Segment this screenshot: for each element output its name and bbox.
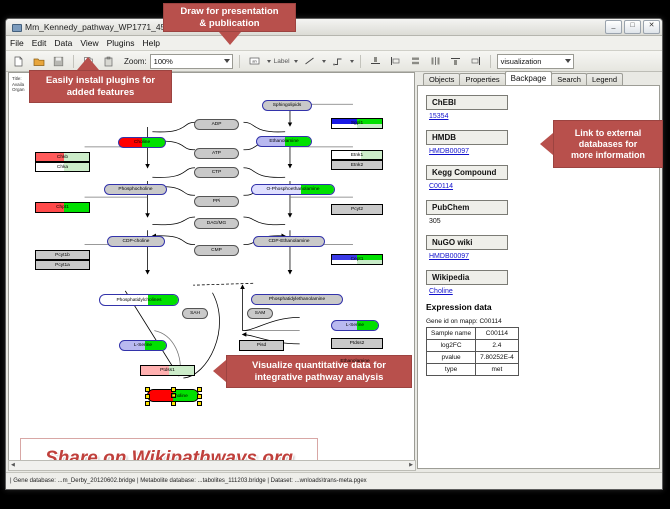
node-atp[interactable]: ATP bbox=[194, 148, 239, 159]
callout-visualize: Visualize quantitative data for integrat… bbox=[226, 355, 412, 388]
node-fill-up bbox=[361, 151, 382, 159]
tab-backpage[interactable]: Backpage bbox=[505, 71, 553, 85]
node-l-serine-right[interactable]: L-Serine bbox=[331, 320, 379, 331]
node-label: Ptdss1 bbox=[160, 368, 175, 373]
db-header-pubchem: PubChem bbox=[426, 200, 508, 215]
maximize-button[interactable]: □ bbox=[624, 20, 641, 34]
resize-handle-e[interactable] bbox=[197, 394, 202, 399]
minimize-button[interactable]: _ bbox=[605, 20, 622, 34]
pathway-edges bbox=[9, 73, 414, 468]
node-label: Sgpl1 bbox=[351, 121, 363, 126]
node-o-phosphoethanolamine[interactable]: O-Phosphoethanolamine bbox=[251, 184, 335, 195]
node-label: Ethanolamine bbox=[340, 359, 369, 364]
node-label: Choline bbox=[134, 140, 150, 145]
node-ethanolamine-top[interactable]: Ethanolamine bbox=[256, 136, 312, 147]
node-label: PPi bbox=[213, 199, 220, 204]
align-bottom-icon[interactable] bbox=[447, 53, 464, 70]
node-label: ADP bbox=[212, 122, 222, 127]
align-top-icon[interactable] bbox=[367, 53, 384, 70]
node-ptdss1[interactable]: Ptdss1 bbox=[140, 365, 195, 376]
node-cdp-ethanolamine[interactable]: CDP-Ethanolamine bbox=[253, 236, 325, 247]
node-sam[interactable]: SAM bbox=[247, 308, 273, 319]
menu-item-help[interactable]: Help bbox=[143, 38, 160, 48]
cell-label: Sample name bbox=[427, 328, 476, 340]
node-l-serine-left[interactable]: L-Serine bbox=[119, 340, 167, 351]
node-phosphatidylethanolamine[interactable]: Phosphatidylethanolamine bbox=[251, 294, 343, 305]
new-icon[interactable] bbox=[10, 53, 27, 70]
cell-label: pvalue bbox=[427, 352, 476, 364]
cell-value: met bbox=[476, 364, 519, 376]
node-sphingolipids[interactable]: Sphingolipids bbox=[262, 100, 312, 111]
node-sgpl1[interactable]: Sgpl1 bbox=[331, 118, 383, 129]
canvas-hscrollbar[interactable]: ◀ ▶ bbox=[8, 460, 416, 471]
node-label: Cept1 bbox=[351, 257, 364, 262]
db-header-wikipedia: Wikipedia bbox=[426, 270, 508, 285]
node-pisd[interactable]: Pisd bbox=[239, 340, 284, 351]
svg-text:ah: ah bbox=[252, 59, 256, 64]
screen: Mm_Kennedy_pathway_WP1771_45176.gpml _ □… bbox=[0, 0, 670, 509]
stack-vertical-icon[interactable] bbox=[407, 53, 424, 70]
node-etnk2[interactable]: Etnk2 bbox=[331, 160, 383, 170]
menu-item-data[interactable]: Data bbox=[54, 38, 72, 48]
status-bar: | Gene database: ...m_Derby_20120602.bri… bbox=[6, 472, 662, 489]
node-choline-selected[interactable]: Choline bbox=[147, 389, 199, 402]
close-button[interactable]: ✕ bbox=[643, 20, 660, 34]
zoom-select[interactable]: 100% bbox=[150, 54, 233, 69]
scroll-right-icon[interactable]: ▶ bbox=[409, 462, 413, 468]
toolbar-separator-3 bbox=[360, 55, 361, 68]
node-ctp[interactable]: CTP bbox=[194, 167, 239, 178]
node-pcyt1a[interactable]: Pcyt1a bbox=[35, 260, 90, 270]
node-label: Pcyt2 bbox=[351, 207, 363, 212]
node-dag-mg[interactable]: DAG/MG bbox=[194, 218, 239, 229]
tab-search[interactable]: Search bbox=[551, 73, 587, 85]
align-left-icon[interactable] bbox=[387, 53, 404, 70]
tab-legend[interactable]: Legend bbox=[586, 73, 623, 85]
cell-value: 2.4 bbox=[476, 340, 519, 352]
node-label: ATP bbox=[212, 151, 221, 156]
callout-draw: Draw for presentation & publication bbox=[163, 3, 296, 32]
chevron-down-icon-line[interactable] bbox=[322, 60, 326, 63]
node-label: SAM bbox=[255, 311, 265, 316]
side-panel-tabs: Objects Properties Backpage Search Legen… bbox=[417, 72, 660, 85]
callout-external: Link to external databases for more info… bbox=[553, 120, 663, 168]
expression-table: Sample name C00114 log2FC 2.4 pvalue 7.8… bbox=[426, 327, 519, 376]
zoom-label: Zoom: bbox=[124, 57, 147, 66]
window-controls[interactable]: _ □ ✕ bbox=[605, 20, 660, 34]
toolbar-separator-4 bbox=[490, 55, 491, 68]
chevron-down-icon bbox=[224, 59, 230, 63]
node-pcyt1b[interactable]: Pcyt1b bbox=[35, 250, 90, 260]
cell-value: C00114 bbox=[476, 328, 519, 340]
title-bar: Mm_Kennedy_pathway_WP1771_45176.gpml _ □… bbox=[6, 19, 662, 36]
zoom-value: 100% bbox=[154, 57, 173, 66]
callout-draw-arrow-icon bbox=[219, 32, 241, 45]
open-icon[interactable] bbox=[30, 53, 47, 70]
pathway-canvas[interactable]: Title: Availa Organ bbox=[8, 72, 415, 469]
node-phosphocholine[interactable]: Phosphocholine bbox=[104, 184, 167, 195]
menu-item-view[interactable]: View bbox=[80, 38, 98, 48]
node-cdp-choline[interactable]: CDP-choline bbox=[107, 236, 165, 247]
node-label: CTP bbox=[212, 170, 222, 175]
node-label: Choline bbox=[171, 393, 176, 398]
table-row: Sample name C00114 bbox=[427, 328, 519, 340]
node-label: L-Serine bbox=[134, 343, 152, 348]
chevron-down-icon-label[interactable] bbox=[294, 60, 298, 63]
node-label: O-Phosphoethanolamine bbox=[266, 187, 319, 192]
db-header-nugo-wiki: NuGO wiki bbox=[426, 235, 508, 250]
callout-plugins: Easily install plugins for added feature… bbox=[29, 70, 172, 103]
resize-handle-ne[interactable] bbox=[197, 387, 202, 392]
label-tool-label: Label bbox=[274, 58, 290, 65]
node-cept1[interactable]: Cept1 bbox=[331, 254, 383, 265]
db-link-wikipedia[interactable]: Choline bbox=[429, 288, 651, 295]
node-label: CMP bbox=[211, 248, 222, 253]
db-header-hmdb: HMDB bbox=[426, 130, 508, 145]
node-label: Ptdss2 bbox=[350, 341, 365, 346]
db-header-kegg-compound: Kegg Compound bbox=[426, 165, 508, 180]
node-adp[interactable]: ADP bbox=[194, 119, 239, 130]
node-label: Chpt1 bbox=[56, 205, 69, 210]
align-right-icon[interactable] bbox=[467, 53, 484, 70]
menu-item-edit[interactable]: Edit bbox=[32, 38, 47, 48]
table-row: pvalue 7.80252E-4 bbox=[427, 352, 519, 364]
node-label: Pcyt1b bbox=[55, 253, 70, 258]
node-chpt1[interactable]: Chpt1 bbox=[35, 202, 90, 213]
resize-handle-nw[interactable] bbox=[145, 387, 150, 392]
db-value-pubchem: 305 bbox=[429, 218, 651, 225]
db-link-chebi[interactable]: 15354 bbox=[429, 113, 651, 120]
save-icon[interactable] bbox=[50, 53, 67, 70]
app-icon bbox=[11, 22, 21, 32]
menu-item-plugins[interactable]: Plugins bbox=[107, 38, 135, 48]
node-chkb[interactable]: Chkb bbox=[35, 152, 90, 162]
node-label: Phosphatidylethanolamine bbox=[269, 297, 325, 302]
node-etnk1[interactable]: Etnk1 bbox=[331, 150, 383, 160]
db-link-kegg-compound[interactable]: C00114 bbox=[429, 183, 651, 190]
paste-icon[interactable] bbox=[100, 53, 117, 70]
visualization-value: visualization bbox=[501, 57, 542, 66]
toolbar-separator bbox=[73, 55, 74, 68]
cell-value: 7.80252E-4 bbox=[476, 352, 519, 364]
node-label: Ethanolamine bbox=[269, 139, 298, 144]
node-label: Chka bbox=[57, 165, 68, 170]
resize-handle-sw[interactable] bbox=[145, 401, 150, 406]
db-header-chebi: ChEBI bbox=[426, 95, 508, 110]
gene-id-line: Gene id on mapp: C00114 bbox=[426, 318, 651, 325]
node-ptdss2[interactable]: Ptdss2 bbox=[331, 338, 383, 349]
resize-handle-n[interactable] bbox=[171, 387, 176, 392]
node-label: Etnk1 bbox=[351, 153, 363, 158]
node-label: L-Serine bbox=[346, 323, 364, 328]
resize-handle-se[interactable] bbox=[197, 401, 202, 406]
node-label: Pcyt1a bbox=[55, 263, 70, 268]
node-label: Pisd bbox=[257, 343, 266, 348]
node-label: Phosphocholine bbox=[118, 187, 152, 192]
node-cmp[interactable]: CMP bbox=[194, 245, 239, 256]
node-label: DAG/MG bbox=[207, 221, 226, 226]
distribute-horizontal-icon[interactable] bbox=[427, 53, 444, 70]
db-link-nugo-wiki[interactable]: HMDB00097 bbox=[429, 253, 651, 260]
cell-label: log2FC bbox=[427, 340, 476, 352]
node-label: Sphingolipids bbox=[273, 103, 302, 108]
node-label: CDP-Ethanolamine bbox=[268, 239, 309, 244]
node-label: Phosphatidylcholines bbox=[116, 298, 161, 303]
node-label: CDP-choline bbox=[123, 239, 150, 244]
node-label: Chkb bbox=[57, 155, 68, 160]
tab-properties[interactable]: Properties bbox=[459, 73, 505, 85]
table-row: type met bbox=[427, 364, 519, 376]
callout-plugins-arrow-icon bbox=[77, 57, 99, 70]
scroll-left-icon[interactable]: ◀ bbox=[11, 462, 15, 468]
resize-handle-w[interactable] bbox=[145, 394, 150, 399]
cell-label: type bbox=[427, 364, 476, 376]
line-tool-icon[interactable] bbox=[301, 53, 318, 70]
table-row: log2FC 2.4 bbox=[427, 340, 519, 352]
node-choline-top[interactable]: Choline bbox=[118, 137, 166, 148]
node-pcyt2[interactable]: Pcyt2 bbox=[331, 204, 383, 215]
callout-external-arrow-icon bbox=[540, 133, 553, 155]
node-phosphatidylcholines[interactable]: Phosphatidylcholines bbox=[99, 294, 179, 306]
chevron-down-icon-datanode[interactable] bbox=[267, 60, 271, 63]
visualization-select[interactable]: visualization bbox=[497, 54, 574, 69]
toolbar: Zoom: 100% ah Label bbox=[6, 51, 662, 72]
scroll-thumb[interactable] bbox=[212, 463, 222, 467]
node-label: Etnk2 bbox=[351, 163, 363, 168]
node-label: SAH bbox=[190, 311, 200, 316]
toolbar-separator-2 bbox=[239, 55, 240, 68]
menu-item-file[interactable]: File bbox=[10, 38, 24, 48]
node-chka[interactable]: Chka bbox=[35, 162, 90, 172]
callout-visualize-arrow-icon bbox=[213, 360, 226, 382]
status-text: | Gene database: ...m_Derby_20120602.bri… bbox=[10, 478, 367, 484]
tab-objects[interactable]: Objects bbox=[423, 73, 460, 85]
connector-tool-icon[interactable] bbox=[329, 53, 346, 70]
chevron-down-icon-connector[interactable] bbox=[350, 60, 354, 63]
resize-handle-s[interactable] bbox=[171, 401, 176, 406]
chevron-down-icon-visualization bbox=[565, 59, 571, 63]
datanode-tool-icon[interactable]: ah bbox=[246, 53, 263, 70]
menu-bar: File Edit Data View Plugins Help bbox=[6, 36, 662, 51]
node-sah[interactable]: SAH bbox=[182, 308, 208, 319]
node-ppi[interactable]: PPi bbox=[194, 196, 239, 207]
expression-data-heading: Expression data bbox=[426, 302, 651, 312]
